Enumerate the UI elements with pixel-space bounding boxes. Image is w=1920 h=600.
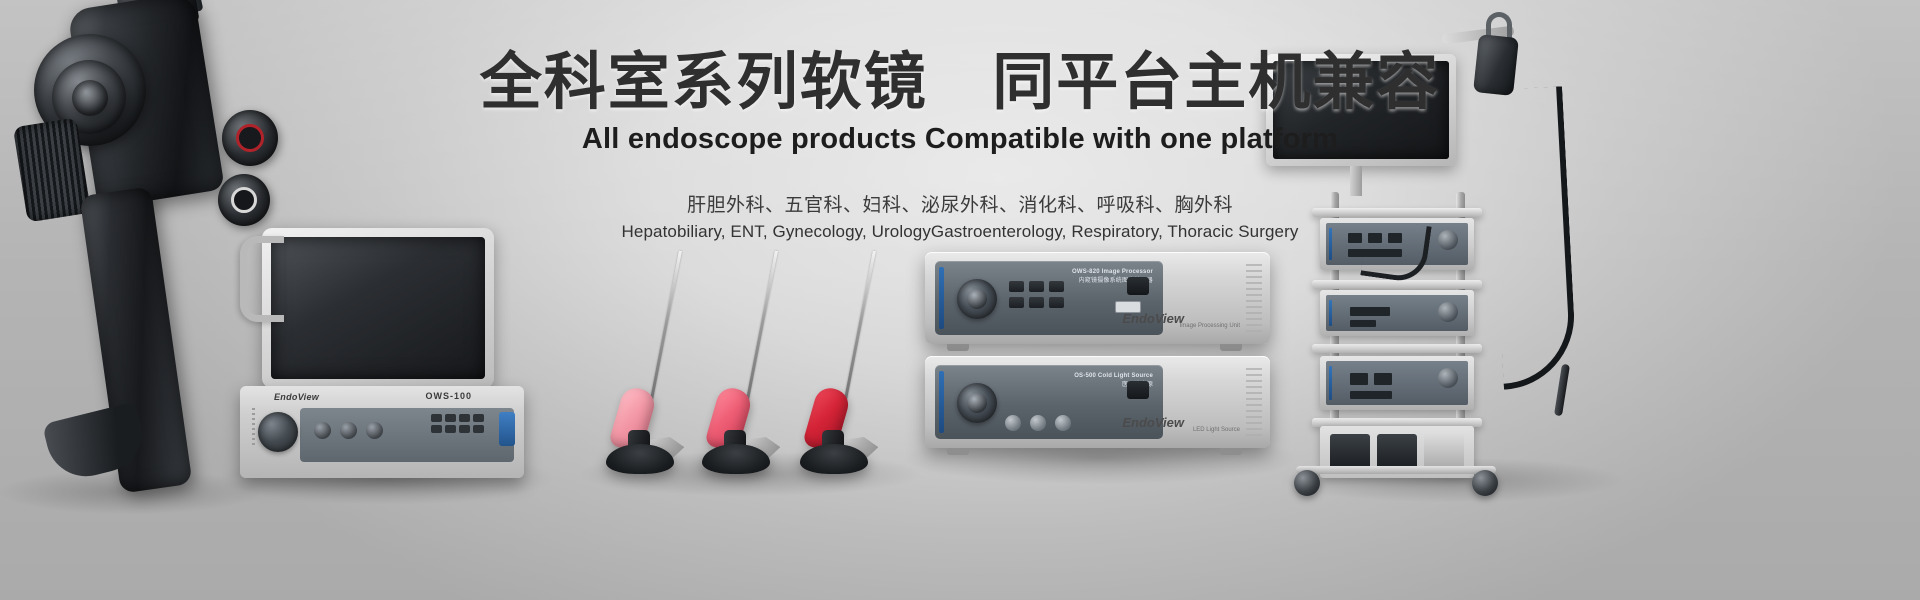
workstation-model-label: OWS-100 — [425, 391, 472, 401]
cart-tray-module-1 — [1330, 434, 1370, 470]
cart-caster-left — [1294, 470, 1320, 496]
instrument-shaft — [648, 251, 682, 411]
instrument-stand — [606, 444, 674, 474]
cart-unit-3 — [1320, 356, 1474, 410]
processor-button-grid — [1009, 281, 1064, 308]
banner-specialties-chinese: 肝胆外科、五官科、妇科、泌尿外科、消化科、呼吸科、胸外科 — [0, 190, 1920, 217]
light-source-vent-grille — [1246, 368, 1262, 436]
workstation-screen — [271, 237, 485, 379]
cart-unit-3-stripe — [1329, 366, 1332, 400]
image-processor-unit: OWS-820 Image Processor 内窥镜摄像系统图像处理器 End… — [925, 252, 1270, 344]
workstation-keypad — [431, 414, 484, 433]
light-source-sub-label: LED Light Source — [1193, 426, 1240, 434]
cart-hanging-scope-tip — [1554, 364, 1570, 417]
processor-video-port — [1127, 277, 1149, 295]
workstation-base: EndoView OWS-100 — [240, 386, 524, 478]
processor-vent-grille — [1246, 264, 1262, 332]
light-source-brand-logo: EndoView — [1122, 415, 1184, 430]
banner-specialties-english: Hepatobiliary, ENT, Gynecology, UrologyG… — [0, 222, 1920, 242]
workstation-blue-accent — [499, 412, 515, 446]
light-source-unit: OS-500 Cold Light Source 医用冷光源 EndoView … — [925, 356, 1270, 448]
light-source-button-row — [1005, 415, 1071, 431]
light-source-blue-stripe — [939, 371, 944, 433]
workstation-knob-2 — [340, 422, 357, 439]
processor-stack: OWS-820 Image Processor 内窥镜摄像系统图像处理器 End… — [925, 252, 1270, 450]
banner-subheadline: All endoscope products Compatible with o… — [0, 123, 1920, 156]
cart-shelf-2 — [1312, 280, 1482, 289]
rigid-instrument-3 — [788, 248, 898, 483]
instrument-shaft — [842, 251, 876, 411]
workstation-knob-1 — [314, 422, 331, 439]
cart-tray-module-3 — [1424, 434, 1464, 470]
instrument-stand — [702, 444, 770, 474]
banner-copy: 全科室系列软镜 同平台主机兼容 All endoscope products C… — [0, 48, 1920, 242]
product-banner: EndoView OWS-100 — [0, 0, 1920, 600]
workstation-display-bezel — [262, 228, 494, 388]
cart-shelf-3 — [1312, 344, 1482, 353]
processor-blue-stripe — [939, 267, 944, 329]
workstation-main-knob — [258, 412, 298, 452]
cart-tray-module-2 — [1377, 434, 1417, 470]
processor-dial-center — [967, 289, 987, 309]
endoscopy-workstation: EndoView OWS-100 — [232, 228, 532, 478]
cart-unit-2-stripe — [1329, 300, 1332, 326]
light-source-feet — [925, 448, 1270, 455]
workstation-brand-label: EndoView — [274, 392, 319, 402]
cart-unit-2 — [1320, 290, 1474, 336]
cart-leg-base — [1296, 466, 1496, 474]
light-source-dial-center — [967, 393, 987, 413]
cart-unit-2-knob — [1438, 302, 1458, 322]
rigid-instrument-2 — [690, 248, 800, 483]
workstation-handle — [240, 236, 284, 322]
cart-unit-3-knob — [1438, 368, 1458, 388]
cart-caster-right — [1472, 470, 1498, 496]
light-source-output-port — [1127, 381, 1149, 399]
workstation-knob-3 — [366, 422, 383, 439]
instrument-shaft — [744, 251, 778, 411]
processor-sub-label: Image Processing Unit — [1180, 322, 1240, 330]
workstation-vent — [252, 408, 255, 448]
headline-part-1: 全科室系列软镜 — [480, 48, 928, 117]
processor-feet — [925, 344, 1270, 351]
banner-headline: 全科室系列软镜 同平台主机兼容 — [0, 48, 1920, 117]
rigid-instrument-1 — [594, 248, 704, 483]
processor-brand-logo: EndoView — [1122, 311, 1184, 326]
instrument-stand — [800, 444, 868, 474]
headline-part-2: 同平台主机兼容 — [992, 48, 1440, 117]
